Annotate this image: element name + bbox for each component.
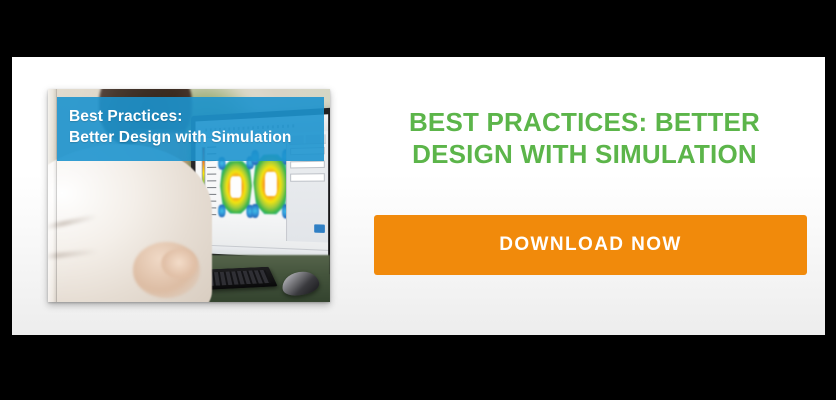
ebook-cover-title-band: Best Practices: Better Design with Simul… <box>57 97 324 161</box>
ebook-cover-title-line-2: Better Design with Simulation <box>69 127 324 148</box>
ebook-cover-image[interactable]: Best Practices: Better Design with Simul… <box>48 89 330 302</box>
fea-result-part-right <box>253 153 288 215</box>
fea-part-tab <box>218 205 225 218</box>
offer-headline: Best Practices: Better Design with Simul… <box>362 106 807 170</box>
panel-input-row <box>290 174 325 182</box>
panel-confirm-button <box>314 224 325 233</box>
ebook-cover-title-line-1: Best Practices: <box>69 106 324 127</box>
cta-content-column: Best Practices: Better Design with Simul… <box>362 57 825 335</box>
cta-banner: Best Practices: Better Design with Simul… <box>12 57 825 335</box>
book-spine <box>48 89 57 302</box>
person-hand <box>161 249 198 279</box>
panel-input-row <box>290 161 325 169</box>
fea-part-hole <box>265 172 277 197</box>
download-now-button[interactable]: Download Now <box>374 215 807 275</box>
fea-part-hole <box>231 176 242 198</box>
fea-result-part-left <box>220 160 252 215</box>
fea-part-tab <box>251 204 259 219</box>
